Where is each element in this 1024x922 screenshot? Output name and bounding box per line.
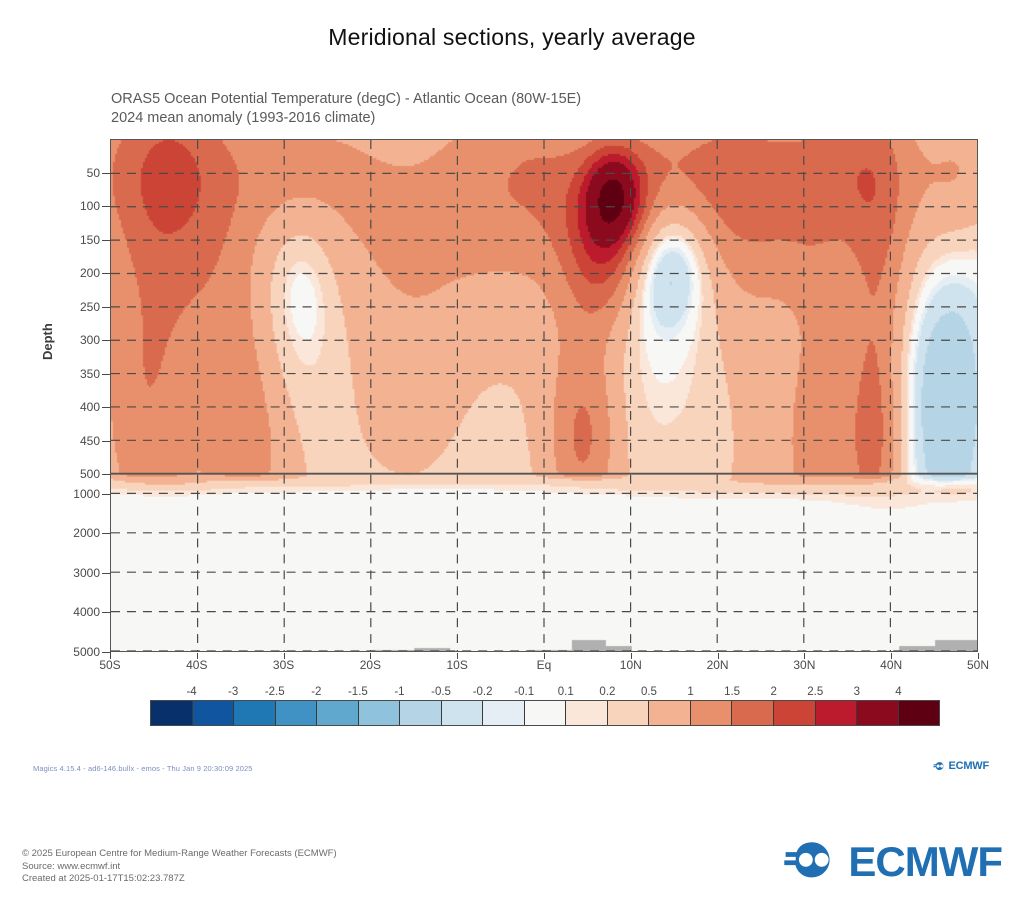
x-tick-mark [370, 653, 371, 659]
y-tick-label: 450 [40, 434, 100, 448]
y-tick-mark [102, 612, 111, 613]
magics-logo-text: ECMWF [948, 760, 989, 772]
y-tick-label: 5000 [40, 645, 100, 659]
x-tick-label: 30S [273, 658, 294, 672]
colorbar-tick-label: -4 [186, 686, 196, 698]
figure-page: Meridional sections, yearly average ORAS… [0, 0, 1024, 922]
x-tick-mark [457, 653, 458, 659]
colorbar-band [151, 701, 193, 725]
y-tick-label: 1000 [40, 487, 100, 501]
x-tick-mark [284, 653, 285, 659]
x-tick-mark [197, 653, 198, 659]
colorbar-tick-label: 2 [770, 686, 776, 698]
x-tick-label: 30N [793, 658, 815, 672]
colorbar-band [608, 701, 650, 725]
ecmwf-logo: ECMWF [783, 840, 1002, 884]
x-tick-label: 10S [447, 658, 468, 672]
colorbar-tick-label: 0.5 [641, 686, 657, 698]
y-axis-ticks: 5010015020025030035040045050010002000300… [36, 0, 100, 922]
colorbar-tick-label: 0.1 [558, 686, 574, 698]
copyright-line: © 2025 European Centre for Medium-Range … [22, 848, 337, 861]
colorbar-band [400, 701, 442, 725]
x-tick-mark [718, 653, 719, 659]
colorbar-tick-label: 0.2 [599, 686, 615, 698]
y-tick-mark [102, 474, 111, 475]
colorbar-band [483, 701, 525, 725]
y-tick-mark [102, 573, 111, 574]
colorbar-tick-label: 4 [895, 686, 901, 698]
colorbar-band [857, 701, 899, 725]
colorbar-tick-label: 2.5 [807, 686, 823, 698]
y-tick-mark [102, 240, 111, 241]
y-tick-mark [102, 533, 111, 534]
x-tick-label: 50S [99, 658, 120, 672]
y-tick-label: 150 [40, 233, 100, 247]
plot-heading-line2: 2024 mean anomaly (1993-2016 climate) [111, 109, 931, 128]
colorbar-band [899, 701, 940, 725]
colorbar-band [774, 701, 816, 725]
y-tick-label: 100 [40, 199, 100, 213]
colorbar-band [276, 701, 318, 725]
y-tick-label: 400 [40, 400, 100, 414]
colorbar-band [732, 701, 774, 725]
y-tick-label: 350 [40, 367, 100, 381]
x-tick-label: 20S [360, 658, 381, 672]
plot-heading: ORAS5 Ocean Potential Temperature (degC)… [111, 90, 931, 128]
y-tick-mark [102, 340, 111, 341]
y-tick-mark [102, 173, 111, 174]
ecmwf-mark-small-icon [933, 761, 946, 772]
colorbar-tick-label: 1.5 [724, 686, 740, 698]
y-tick-mark [102, 407, 111, 408]
x-tick-mark [631, 653, 632, 659]
credits-block: © 2025 European Centre for Medium-Range … [22, 848, 337, 886]
x-tick-label: 10N [620, 658, 642, 672]
page-title: Meridional sections, yearly average [0, 24, 1024, 51]
ecmwf-wordmark: ECMWF [848, 841, 1002, 883]
plot-heading-line1: ORAS5 Ocean Potential Temperature (degC)… [111, 90, 931, 109]
x-tick-mark [978, 653, 979, 659]
colorbar-band [359, 701, 401, 725]
magics-version-text: Magics 4.15.4 - ad6-146.bullx - emos - T… [33, 764, 253, 773]
y-tick-label: 200 [40, 266, 100, 280]
temperature-anomaly-field [111, 140, 977, 651]
y-tick-label: 4000 [40, 605, 100, 619]
colorbar-tick-label: -3 [228, 686, 238, 698]
source-line: Source: www.ecmwf.int [22, 861, 337, 874]
colorbar-tick-label: -0.1 [514, 686, 534, 698]
y-tick-mark [102, 206, 111, 207]
colorbar-tick-label: 3 [854, 686, 860, 698]
x-tick-mark [891, 653, 892, 659]
y-tick-mark [102, 374, 111, 375]
colorbar-bands [150, 700, 940, 726]
x-tick-label: 40S [186, 658, 207, 672]
x-tick-mark [804, 653, 805, 659]
y-tick-label: 300 [40, 333, 100, 347]
y-tick-mark [102, 273, 111, 274]
colorbar-band [234, 701, 276, 725]
colorbar-band [317, 701, 359, 725]
x-tick-label: 40N [880, 658, 902, 672]
y-tick-label: 250 [40, 300, 100, 314]
x-tick-label: 20N [707, 658, 729, 672]
x-tick-label: 50N [967, 658, 989, 672]
magics-ecmwf-logo: ECMWF [933, 760, 989, 772]
y-tick-label: 3000 [40, 566, 100, 580]
colorbar-tick-label: -0.2 [473, 686, 493, 698]
x-tick-label: Eq [537, 658, 552, 672]
colorbar-band [649, 701, 691, 725]
plot-area [110, 139, 978, 652]
colorbar-band [566, 701, 608, 725]
y-tick-label: 2000 [40, 526, 100, 540]
y-tick-mark [102, 494, 111, 495]
colorbar-band [691, 701, 733, 725]
x-tick-mark [544, 653, 545, 659]
y-tick-label: 50 [40, 166, 100, 180]
y-tick-label: 500 [40, 467, 100, 481]
y-tick-mark [102, 307, 111, 308]
colorbar-tick-label: -0.5 [431, 686, 451, 698]
colorbar-tick-label: -1.5 [348, 686, 368, 698]
colorbar-tick-label: -2.5 [265, 686, 285, 698]
colorbar-tick-label: -2 [311, 686, 321, 698]
colorbar-band [193, 701, 235, 725]
colorbar-tick-label: 1 [687, 686, 693, 698]
x-tick-mark [110, 653, 111, 659]
colorbar-band [442, 701, 484, 725]
colorbar-tick-label: -1 [394, 686, 404, 698]
ecmwf-mark-icon [783, 840, 841, 884]
colorbar [150, 700, 940, 726]
colorbar-band [525, 701, 567, 725]
colorbar-band [816, 701, 858, 725]
y-tick-mark [102, 441, 111, 442]
created-line: Created at 2025-01-17T15:02:23.787Z [22, 873, 337, 886]
